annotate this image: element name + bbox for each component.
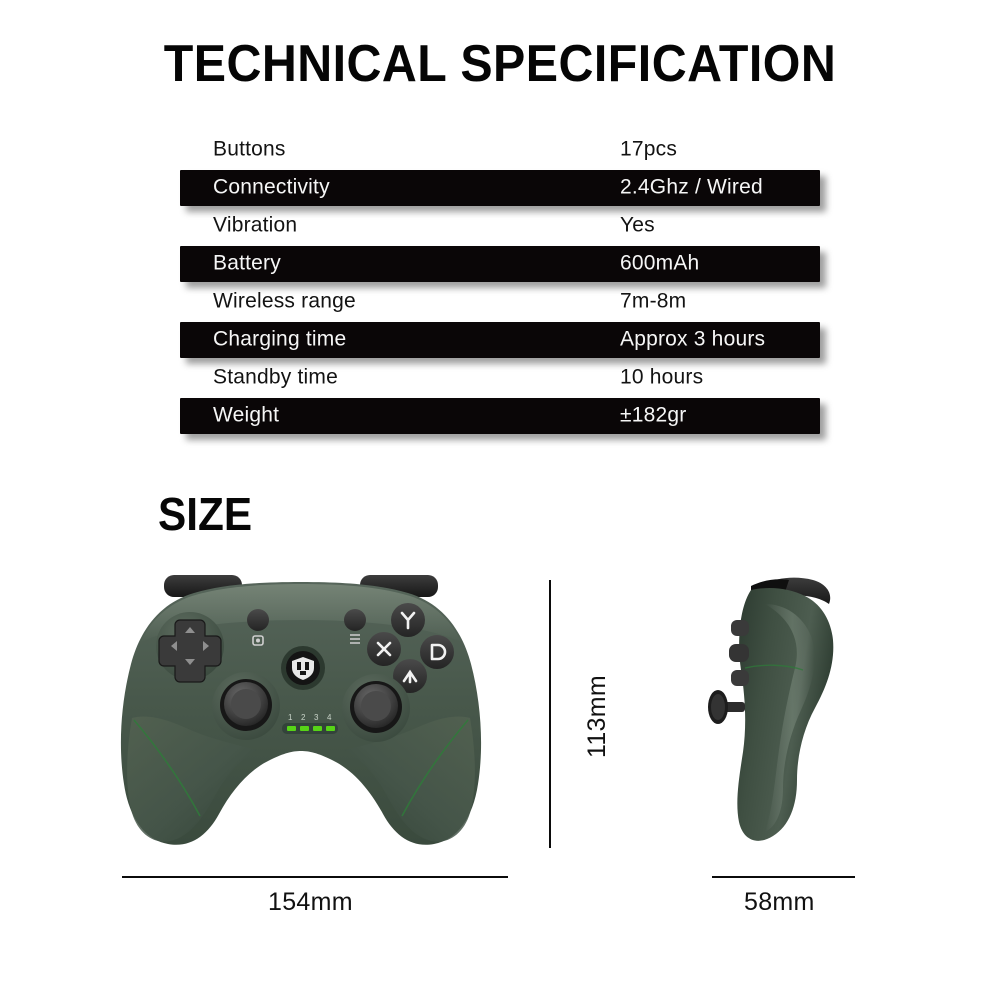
page-title: TECHNICAL SPECIFICATION [35, 34, 965, 94]
specification-table: Buttons 17pcs Connectivity 2.4Ghz / Wire… [0, 132, 1000, 442]
spec-value: Approx 3 hours [620, 328, 765, 352]
spec-value: 7m-8m [620, 290, 686, 314]
spec-label: Connectivity [213, 176, 330, 200]
width-dimension-line [122, 876, 508, 878]
width-dimension-label: 154mm [268, 888, 353, 917]
table-row: Vibration Yes [180, 208, 820, 244]
spec-value: 10 hours [620, 366, 703, 390]
table-row: Connectivity 2.4Ghz / Wired [180, 170, 820, 206]
analog-stick-left [212, 672, 280, 740]
table-row: Battery 600mAh [180, 246, 820, 282]
section-title-size: SIZE [158, 487, 252, 541]
gamepad-front-view: 1 2 3 4 [112, 568, 490, 858]
led-3 [313, 726, 322, 731]
spec-label: Charging time [213, 328, 346, 352]
led-1 [287, 726, 296, 731]
table-row: Weight ±182gr [180, 398, 820, 434]
led-2 [300, 726, 309, 731]
spec-label: Weight [213, 404, 279, 428]
spec-value: 600mAh [620, 252, 699, 276]
spec-value: 2.4Ghz / Wired [620, 176, 763, 200]
led-label-2: 2 [301, 713, 306, 722]
height-dimension-line [549, 580, 551, 848]
table-row: Wireless range 7m-8m [180, 284, 820, 320]
led-label-1: 1 [288, 713, 293, 722]
side-analog-stick [708, 690, 745, 724]
home-logo-button [281, 646, 325, 690]
spec-label: Standby time [213, 366, 338, 390]
spec-value: 17pcs [620, 138, 677, 162]
depth-dimension-label: 58mm [744, 888, 815, 917]
led-label-4: 4 [327, 713, 332, 722]
spec-label: Wireless range [213, 290, 356, 314]
analog-stick-right [342, 674, 410, 742]
height-dimension-label: 113mm [583, 675, 612, 758]
gamepad-side-view [693, 564, 853, 856]
table-row: Standby time 10 hours [180, 360, 820, 396]
led-4 [326, 726, 335, 731]
led-label-3: 3 [314, 713, 319, 722]
depth-dimension-line [712, 876, 855, 878]
spec-label: Battery [213, 252, 281, 276]
specification-infographic: TECHNICAL SPECIFICATION Buttons 17pcs Co… [0, 0, 1000, 1000]
spec-value: ±182gr [620, 404, 686, 428]
table-row: Buttons 17pcs [180, 132, 820, 168]
spec-label: Vibration [213, 214, 297, 238]
size-section: 1 2 3 4 [0, 560, 1000, 960]
spec-value: Yes [620, 214, 655, 238]
side-shoulder-buttons [729, 620, 749, 686]
face-button-b [420, 635, 454, 669]
table-row: Charging time Approx 3 hours [180, 322, 820, 358]
spec-label: Buttons [213, 138, 286, 162]
